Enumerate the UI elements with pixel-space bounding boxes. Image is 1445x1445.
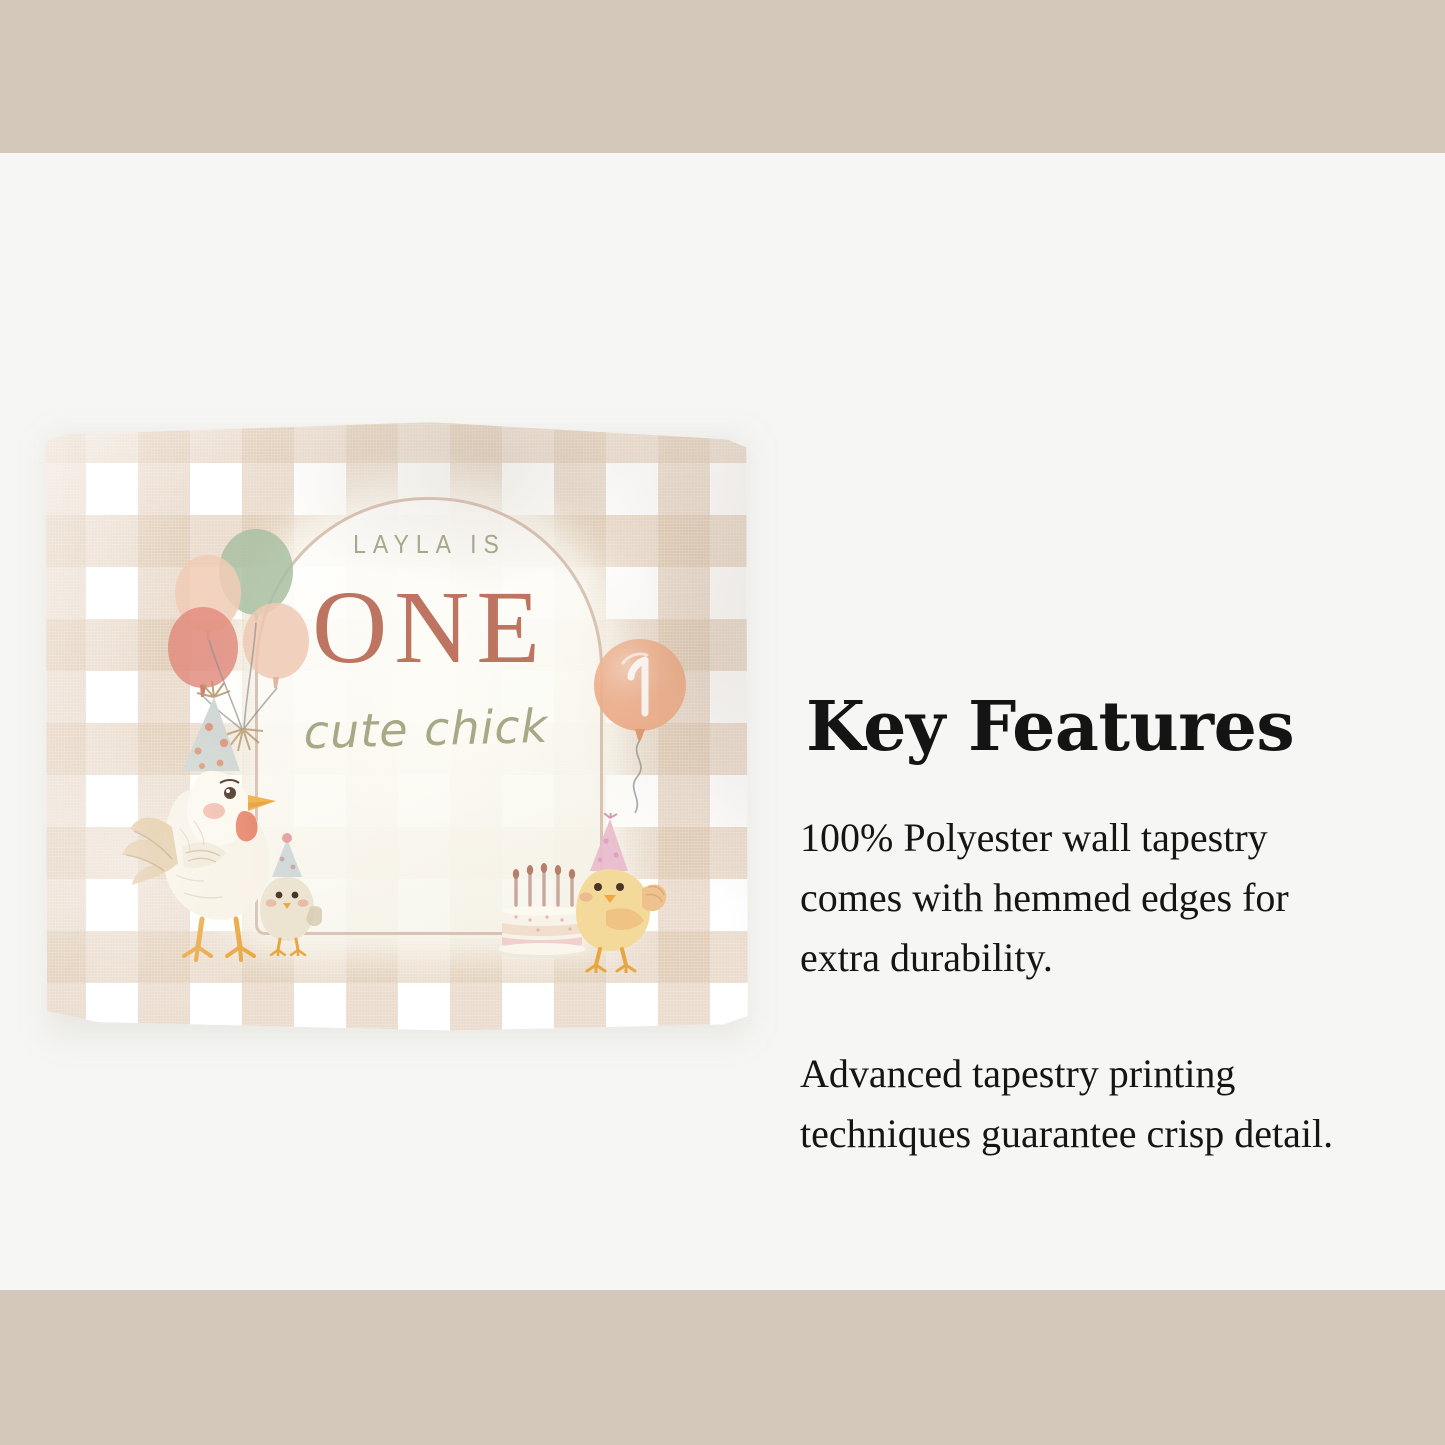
- key-features-heading: Key Features: [806, 693, 1410, 762]
- tapestry-product-image: LAYLA IS ONE cute chick: [40, 421, 755, 1041]
- top-decorative-band: [0, 0, 1445, 153]
- tapestry-cloth: LAYLA IS ONE cute chick: [40, 421, 752, 1033]
- feature-paragraph-1: 100% Polyester wall tapestry comes with …: [800, 808, 1360, 988]
- number-one-balloon-icon: [585, 633, 695, 823]
- content-canvas: LAYLA IS ONE cute chick Key Features 100…: [0, 153, 1445, 1290]
- bottom-decorative-band: [0, 1290, 1445, 1445]
- baby-chick-icon: [252, 831, 322, 956]
- yellow-chick-icon: [564, 813, 674, 973]
- feature-paragraph-2: Advanced tapestry printing techniques gu…: [800, 1044, 1410, 1164]
- key-features-panel: Key Features 100% Polyester wall tapestr…: [800, 693, 1410, 1164]
- product-feature-slide: LAYLA IS ONE cute chick Key Features 100…: [0, 0, 1445, 1445]
